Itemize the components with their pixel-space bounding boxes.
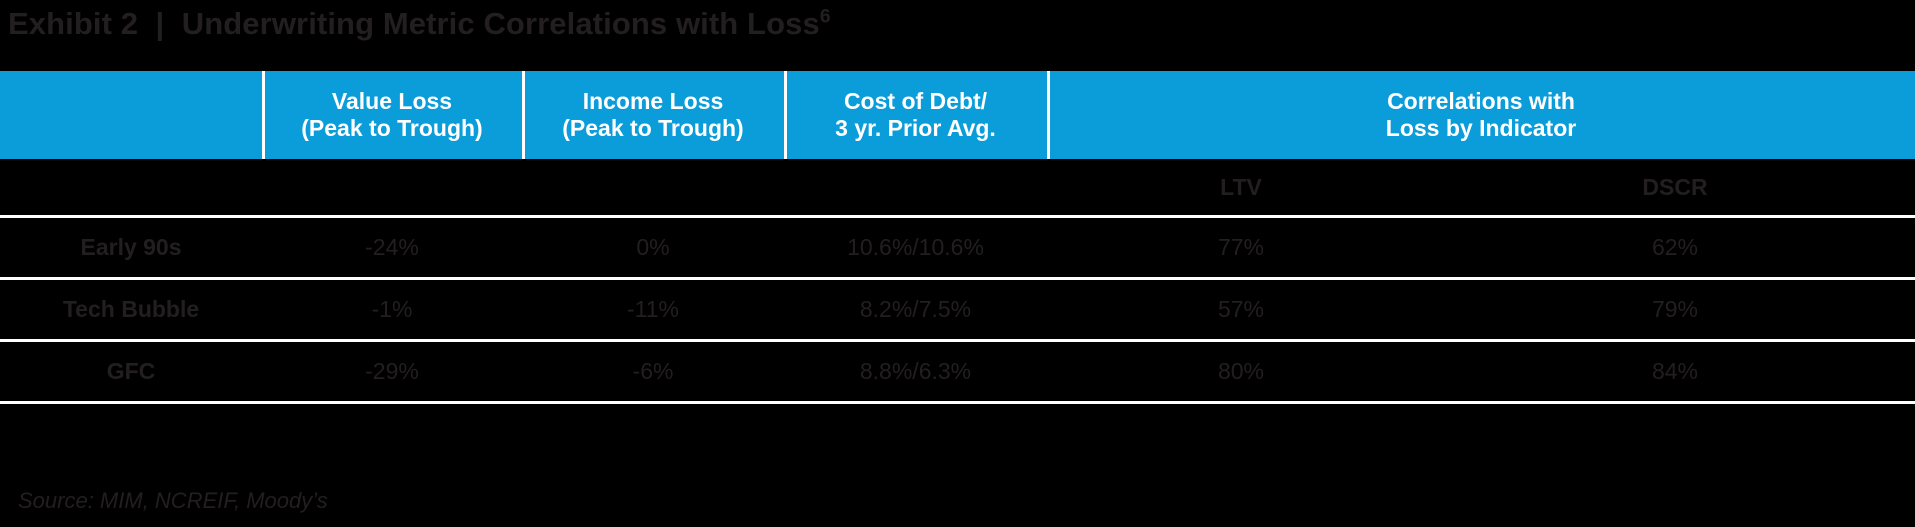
- subheader-cell-dscr: DSCR: [1435, 174, 1915, 201]
- page-title: Exhibit 2 | Underwriting Metric Correlat…: [8, 8, 831, 39]
- cell-tech-bubble-ltv: 57%: [1047, 296, 1435, 323]
- subheader-cell-ltv: LTV: [1047, 174, 1435, 201]
- cell-gfc-ltv: 80%: [1047, 358, 1435, 385]
- row-label-gfc: GFC: [0, 358, 262, 385]
- header-cost-of-debt-line1: Cost of Debt/: [844, 88, 987, 114]
- cell-early-90s-dscr: 62%: [1435, 234, 1915, 261]
- header-cell-cost-of-debt: Cost of Debt/ 3 yr. Prior Avg.: [784, 71, 1047, 159]
- cell-tech-bubble-income-loss: -11%: [522, 296, 784, 323]
- table-subheader-row: LTV DSCR: [0, 159, 1915, 215]
- header-cell-correlations-group: Correlations with Loss by Indicator: [1047, 71, 1915, 159]
- cell-tech-bubble-cost-of-debt: 8.2%/7.5%: [784, 296, 1047, 323]
- table-rule-bottom: [0, 401, 1915, 404]
- header-cell-corner: [0, 71, 262, 159]
- header-correlations-line1: Correlations with: [1387, 88, 1575, 114]
- exhibit-container: Exhibit 2 | Underwriting Metric Correlat…: [0, 0, 1915, 527]
- row-label-early-90s: Early 90s: [0, 234, 262, 261]
- cell-gfc-cost-of-debt: 8.8%/6.3%: [784, 358, 1047, 385]
- title-footnote-marker: 6: [820, 6, 831, 27]
- header-value-loss-line2: (Peak to Trough): [301, 115, 482, 141]
- row-label-tech-bubble: Tech Bubble: [0, 296, 262, 323]
- cell-tech-bubble-value-loss: -1%: [262, 296, 522, 323]
- source-note: Source: MIM, NCREIF, Moody’s: [18, 488, 328, 514]
- title-separator: |: [156, 6, 165, 41]
- header-cell-value-loss: Value Loss (Peak to Trough): [262, 71, 522, 159]
- title-main: Underwriting Metric Correlations with Lo…: [182, 6, 820, 41]
- header-correlations-line2: Loss by Indicator: [1386, 115, 1576, 141]
- cell-early-90s-ltv: 77%: [1047, 234, 1435, 261]
- table-row: Early 90s -24% 0% 10.6%/10.6% 77% 62%: [0, 218, 1915, 277]
- cell-early-90s-value-loss: -24%: [262, 234, 522, 261]
- header-income-loss-line1: Income Loss: [583, 88, 724, 114]
- cell-early-90s-income-loss: 0%: [522, 234, 784, 261]
- correlations-table: Value Loss (Peak to Trough) Income Loss …: [0, 71, 1915, 404]
- header-cost-of-debt-line2: 3 yr. Prior Avg.: [835, 115, 996, 141]
- table-row: GFC -29% -6% 8.8%/6.3% 80% 84%: [0, 342, 1915, 401]
- table-header-row: Value Loss (Peak to Trough) Income Loss …: [0, 71, 1915, 159]
- exhibit-title: Exhibit 2 | Underwriting Metric Correlat…: [8, 0, 831, 46]
- cell-early-90s-cost-of-debt: 10.6%/10.6%: [784, 234, 1047, 261]
- cell-tech-bubble-dscr: 79%: [1435, 296, 1915, 323]
- table-row: Tech Bubble -1% -11% 8.2%/7.5% 57% 79%: [0, 280, 1915, 339]
- cell-gfc-dscr: 84%: [1435, 358, 1915, 385]
- cell-gfc-value-loss: -29%: [262, 358, 522, 385]
- title-prefix: Exhibit 2: [8, 6, 138, 41]
- header-cell-income-loss: Income Loss (Peak to Trough): [522, 71, 784, 159]
- header-value-loss-line1: Value Loss: [332, 88, 452, 114]
- cell-gfc-income-loss: -6%: [522, 358, 784, 385]
- header-income-loss-line2: (Peak to Trough): [562, 115, 743, 141]
